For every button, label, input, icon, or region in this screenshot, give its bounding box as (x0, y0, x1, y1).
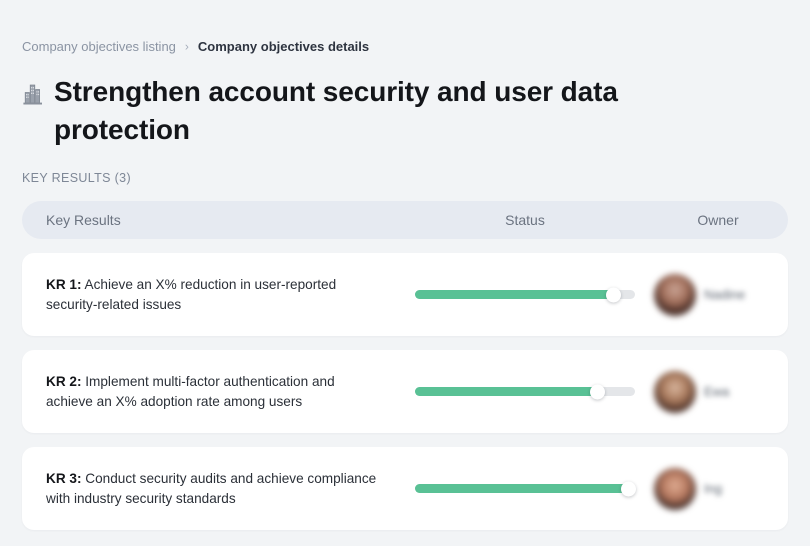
table-row[interactable]: KR 3: Conduct security audits and achiev… (22, 447, 788, 530)
breadcrumb-current: Company objectives details (198, 38, 369, 56)
avatar[interactable] (654, 274, 696, 316)
page-title-row: Strengthen account security and user dat… (22, 73, 788, 149)
avatar[interactable] (654, 371, 696, 413)
objective-details-page: Company objectives listing › Company obj… (0, 0, 810, 546)
progress-fill (415, 484, 628, 493)
key-result-description: KR 2: Implement multi-factor authenticat… (22, 372, 402, 412)
key-results-table: Key Results Status Owner KR 1: Achieve a… (22, 201, 788, 530)
status-cell (402, 290, 648, 299)
progress-knob[interactable] (606, 287, 621, 302)
progress-slider[interactable] (415, 387, 635, 396)
progress-knob[interactable] (621, 481, 636, 496)
company-building-icon (22, 81, 44, 107)
owner-name: Ewa (704, 384, 729, 399)
owner-name: Ing (704, 481, 722, 496)
key-result-text: Achieve an X% reduction in user-reported… (46, 277, 336, 312)
column-header-owner: Owner (648, 212, 788, 228)
progress-slider[interactable] (415, 290, 635, 299)
key-result-description: KR 3: Conduct security audits and achiev… (22, 469, 402, 509)
owner-cell: Ing (648, 468, 788, 510)
status-cell (402, 387, 648, 396)
chevron-right-icon: › (185, 38, 189, 56)
page-title: Strengthen account security and user dat… (54, 73, 654, 149)
avatar[interactable] (654, 468, 696, 510)
key-result-label: KR 2: (46, 374, 82, 389)
column-header-key-results: Key Results (22, 212, 402, 228)
table-row[interactable]: KR 1: Achieve an X% reduction in user-re… (22, 253, 788, 336)
key-result-label: KR 3: (46, 471, 82, 486)
table-row[interactable]: KR 2: Implement multi-factor authenticat… (22, 350, 788, 433)
progress-fill (415, 387, 598, 396)
status-cell (402, 484, 648, 493)
column-header-status: Status (402, 212, 648, 228)
progress-knob[interactable] (590, 384, 605, 399)
progress-slider[interactable] (415, 484, 635, 493)
key-results-section-label: KEY RESULTS (3) (22, 171, 788, 185)
owner-name: Nadine (704, 287, 745, 302)
progress-fill (415, 290, 613, 299)
table-header-row: Key Results Status Owner (22, 201, 788, 239)
key-result-text: Conduct security audits and achieve comp… (46, 471, 376, 506)
owner-cell: Ewa (648, 371, 788, 413)
owner-cell: Nadine (648, 274, 788, 316)
key-result-description: KR 1: Achieve an X% reduction in user-re… (22, 275, 402, 315)
key-result-text: Implement multi-factor authentication an… (46, 374, 335, 409)
key-result-label: KR 1: (46, 277, 82, 292)
breadcrumb-parent-link[interactable]: Company objectives listing (22, 38, 176, 56)
breadcrumb: Company objectives listing › Company obj… (22, 0, 788, 56)
